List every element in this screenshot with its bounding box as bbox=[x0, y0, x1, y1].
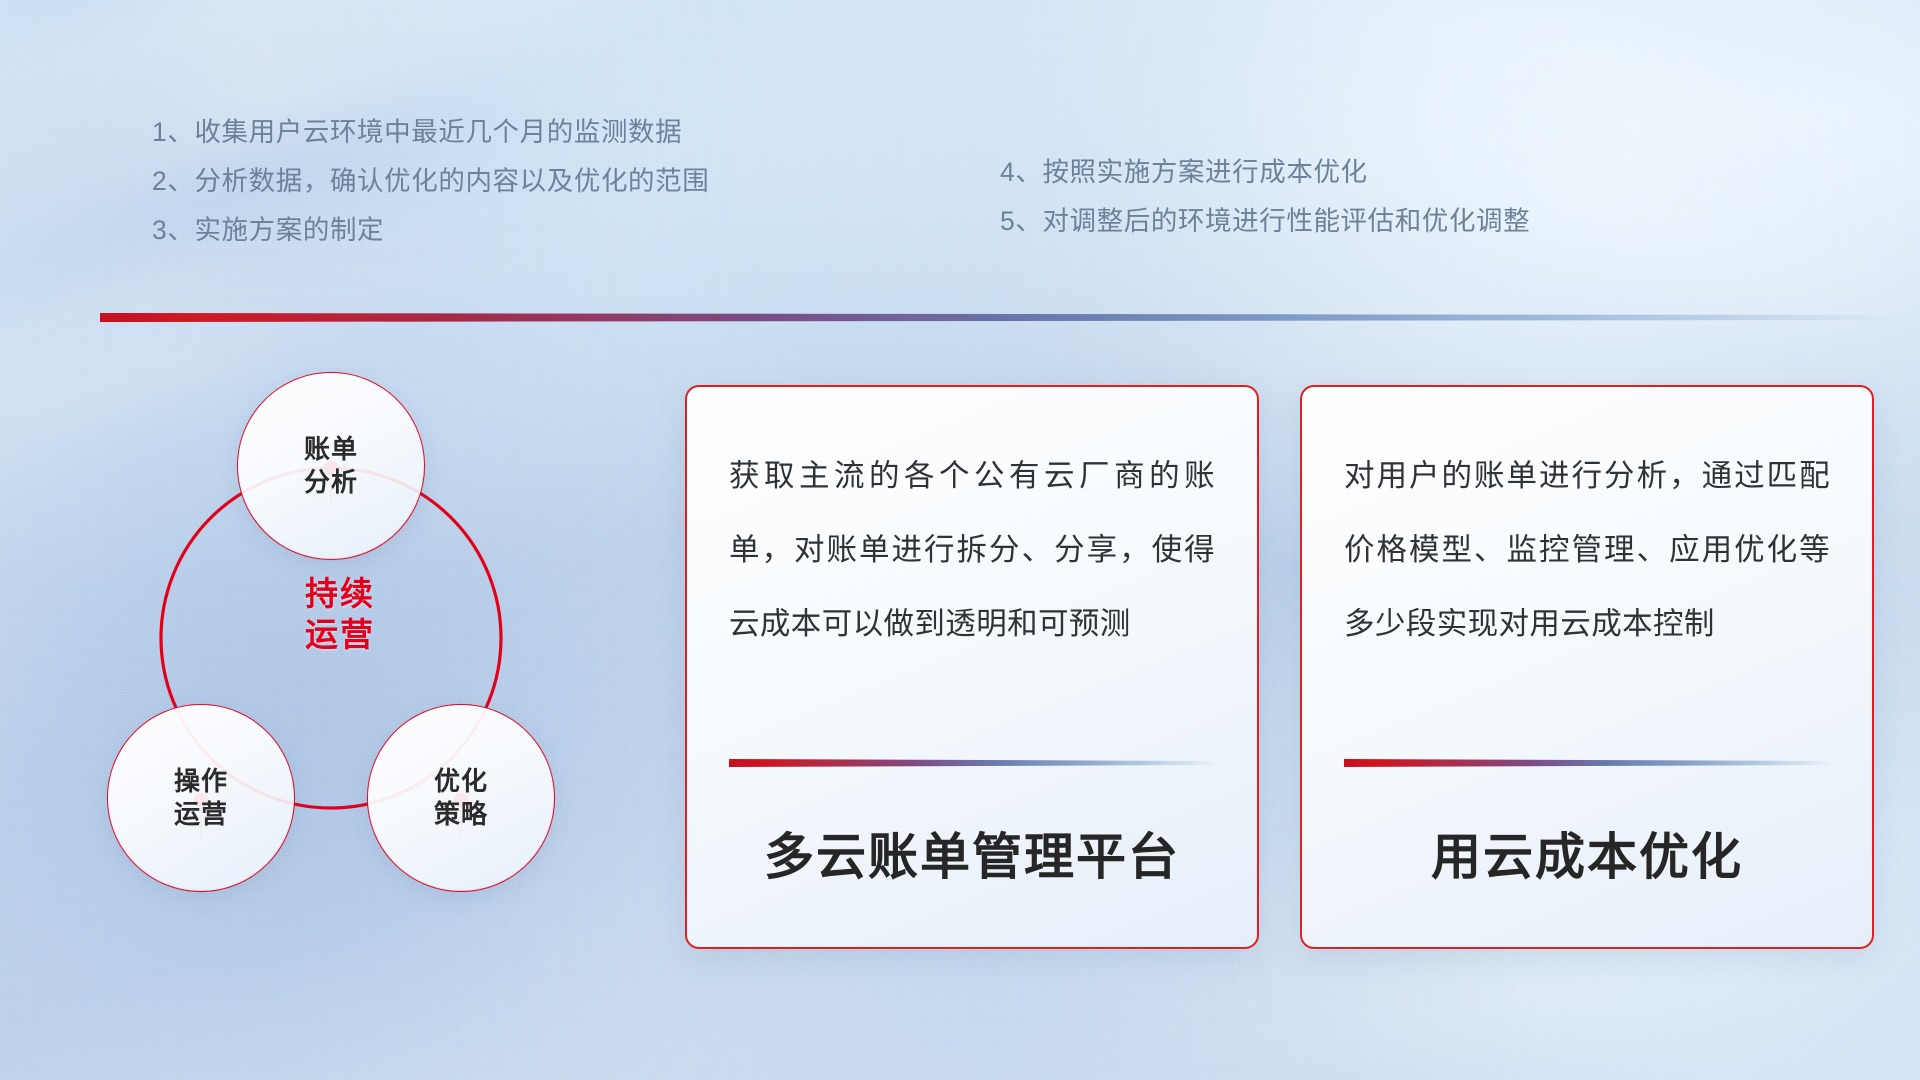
diagram-center-label-line1: 持续 bbox=[270, 573, 410, 614]
diagram-center-label: 持续 运营 bbox=[270, 573, 410, 655]
diagram-node-label-line2: 策略 bbox=[434, 798, 488, 831]
card-divider bbox=[729, 759, 1217, 767]
steps-column-right: 4、按照实施方案进行成本优化 5、对调整后的环境进行性能评估和优化调整 bbox=[1000, 148, 1530, 246]
diagram-node-label: 账单 分析 bbox=[304, 433, 358, 499]
card-body-text: 对用户的账单进行分析，通过匹配价格模型、监控管理、应用优化等多少段实现对用云成本… bbox=[1344, 439, 1830, 661]
card-title: 用云成本优化 bbox=[1302, 817, 1872, 889]
diagram-node-label-line1: 账单 bbox=[304, 433, 358, 466]
diagram-node-operation[interactable]: 操作 运营 bbox=[108, 705, 294, 891]
diagram-node-label-line1: 优化 bbox=[434, 765, 488, 798]
step-item-4: 4、按照实施方案进行成本优化 bbox=[1000, 148, 1530, 197]
diagram-center-label-line2: 运营 bbox=[270, 614, 410, 655]
step-item-5: 5、对调整后的环境进行性能评估和优化调整 bbox=[1000, 197, 1530, 246]
diagram-node-optimization-strategy[interactable]: 优化 策略 bbox=[368, 705, 554, 891]
step-item-1: 1、收集用户云环境中最近几个月的监测数据 bbox=[152, 108, 709, 157]
diagram-node-label-line2: 运营 bbox=[174, 798, 228, 831]
card-divider-bar bbox=[729, 759, 1217, 767]
diagram-node-label: 操作 运营 bbox=[174, 765, 228, 831]
card-divider bbox=[1344, 759, 1832, 767]
diagram-node-label-line2: 分析 bbox=[304, 466, 358, 499]
slide-canvas: 1、收集用户云环境中最近几个月的监测数据 2、分析数据，确认优化的内容以及优化的… bbox=[0, 0, 1920, 1080]
diagram-node-label-line1: 操作 bbox=[174, 765, 228, 798]
step-item-2: 2、分析数据，确认优化的内容以及优化的范围 bbox=[152, 157, 709, 206]
steps-column-left: 1、收集用户云环境中最近几个月的监测数据 2、分析数据，确认优化的内容以及优化的… bbox=[152, 108, 709, 255]
steps-list: 1、收集用户云环境中最近几个月的监测数据 2、分析数据，确认优化的内容以及优化的… bbox=[0, 108, 1920, 288]
continuous-operation-diagram: 账单 分析 操作 运营 优化 策略 持续 运营 bbox=[100, 355, 640, 955]
diagram-node-bill-analysis[interactable]: 账单 分析 bbox=[238, 373, 424, 559]
diagram-node-label: 优化 策略 bbox=[434, 765, 488, 831]
section-divider-bar bbox=[100, 313, 1900, 322]
feature-card-cloud-cost-optimization[interactable]: 对用户的账单进行分析，通过匹配价格模型、监控管理、应用优化等多少段实现对用云成本… bbox=[1300, 385, 1874, 949]
section-divider bbox=[100, 313, 1900, 322]
step-item-3: 3、实施方案的制定 bbox=[152, 206, 709, 255]
feature-card-multi-cloud-billing-platform[interactable]: 获取主流的各个公有云厂商的账单，对账单进行拆分、分享，使得云成本可以做到透明和可… bbox=[685, 385, 1259, 949]
card-body-text: 获取主流的各个公有云厂商的账单，对账单进行拆分、分享，使得云成本可以做到透明和可… bbox=[729, 439, 1215, 661]
card-title: 多云账单管理平台 bbox=[687, 817, 1257, 889]
card-divider-bar bbox=[1344, 759, 1832, 767]
